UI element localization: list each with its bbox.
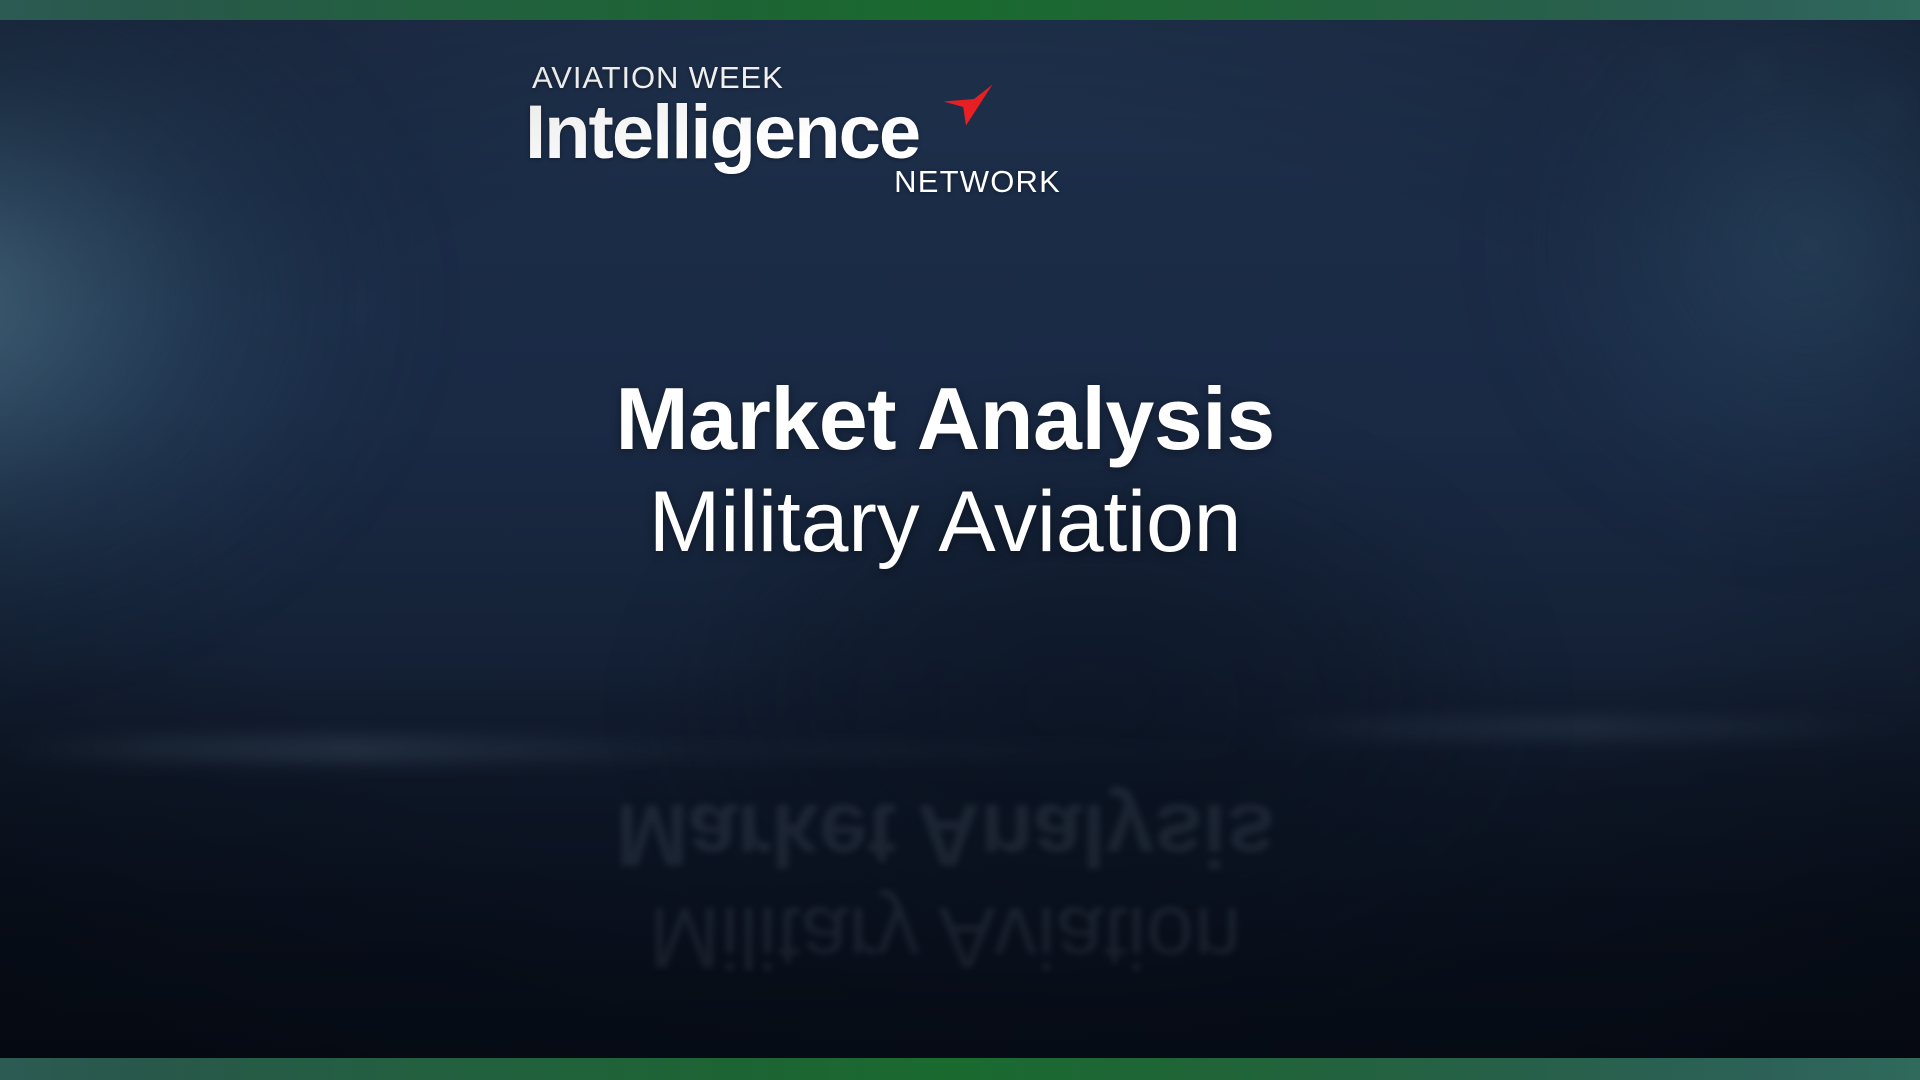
logo-wordmark-row: Intelligence xyxy=(525,94,1085,172)
bokeh-blob-4 xyxy=(1860,78,1912,138)
horizon-streak-mid xyxy=(420,744,1320,758)
bokeh-blob-8 xyxy=(345,282,381,334)
logo-line-intelligence: Intelligence xyxy=(525,94,1085,172)
page-title: Market Analysis xyxy=(345,370,1545,469)
bottom-green-band xyxy=(0,1058,1920,1080)
brand-logo: AVIATION WEEK Intelligence NETWORK xyxy=(525,62,1085,197)
bokeh-blob-5 xyxy=(88,288,118,332)
slide-title-block: Market Analysis Military Aviation xyxy=(345,370,1545,570)
bokeh-blob-2 xyxy=(1655,46,1681,94)
title-slide: AVIATION WEEK Intelligence NETWORK Marke… xyxy=(0,0,1920,1080)
bokeh-blob-1 xyxy=(1570,52,1598,96)
bokeh-blob-6 xyxy=(172,282,198,328)
top-green-band xyxy=(0,0,1920,20)
bokeh-blob-7 xyxy=(252,282,282,330)
red-swoosh-arrow-icon xyxy=(938,82,994,140)
page-subtitle: Military Aviation xyxy=(345,474,1545,570)
horizon-streak-right xyxy=(1260,718,1920,738)
logo-line-aviation-week: AVIATION WEEK xyxy=(525,62,1085,93)
bokeh-blob-3 xyxy=(1740,44,1774,98)
